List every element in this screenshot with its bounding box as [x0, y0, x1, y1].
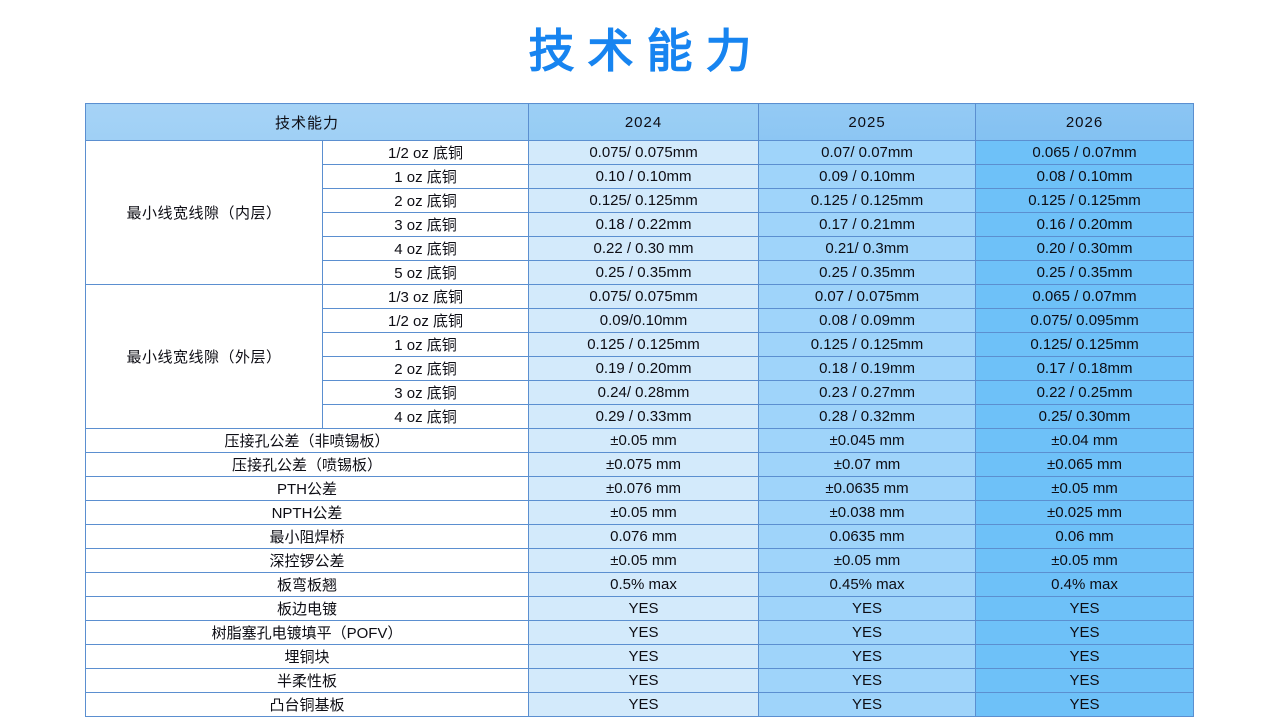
- cell-2026: 0.22 / 0.25mm: [976, 381, 1194, 405]
- cell-2025: 0.18 / 0.19mm: [759, 357, 976, 381]
- table-row: 树脂塞孔电镀填平（POFV）YESYESYES: [86, 621, 1194, 645]
- cell-2026: 0.4% max: [976, 573, 1194, 597]
- cell-2025: YES: [759, 669, 976, 693]
- table-row: 板弯板翘0.5% max0.45% max0.4% max: [86, 573, 1194, 597]
- sub-label: 1 oz 底铜: [323, 165, 529, 189]
- cell-2024: ±0.05 mm: [529, 429, 759, 453]
- cell-2024: ±0.05 mm: [529, 501, 759, 525]
- row-label: 板边电镀: [86, 597, 529, 621]
- cell-2025: YES: [759, 621, 976, 645]
- cell-2024: 0.09/0.10mm: [529, 309, 759, 333]
- cell-2024: ±0.05 mm: [529, 549, 759, 573]
- cell-2025: ±0.045 mm: [759, 429, 976, 453]
- cell-2025: 0.45% max: [759, 573, 976, 597]
- cell-2024: 0.125/ 0.125mm: [529, 189, 759, 213]
- cell-2025: YES: [759, 597, 976, 621]
- sub-label: 1/3 oz 底铜: [323, 285, 529, 309]
- sub-label: 1 oz 底铜: [323, 333, 529, 357]
- cell-2024: 0.075/ 0.075mm: [529, 285, 759, 309]
- cell-2024: 0.10 / 0.10mm: [529, 165, 759, 189]
- cell-2024: 0.5% max: [529, 573, 759, 597]
- row-label: 树脂塞孔电镀填平（POFV）: [86, 621, 529, 645]
- cell-2026: 0.075/ 0.095mm: [976, 309, 1194, 333]
- cell-2026: ±0.025 mm: [976, 501, 1194, 525]
- cell-2025: 0.08 / 0.09mm: [759, 309, 976, 333]
- cell-2026: 0.20 / 0.30mm: [976, 237, 1194, 261]
- table-row: PTH公差±0.076 mm±0.0635 mm±0.05 mm: [86, 477, 1194, 501]
- cell-2026: 0.17 / 0.18mm: [976, 357, 1194, 381]
- cell-2024: YES: [529, 669, 759, 693]
- cell-2024: 0.19 / 0.20mm: [529, 357, 759, 381]
- row-label: 埋铜块: [86, 645, 529, 669]
- cell-2026: 0.125/ 0.125mm: [976, 333, 1194, 357]
- cell-2024: 0.22 / 0.30 mm: [529, 237, 759, 261]
- table-row: 压接孔公差（非喷锡板）±0.05 mm±0.045 mm±0.04 mm: [86, 429, 1194, 453]
- page-title: 技术能力: [0, 22, 1280, 80]
- group-label-1: 最小线宽线隙（外层）: [86, 285, 323, 429]
- cell-2025: 0.07 / 0.075mm: [759, 285, 976, 309]
- table-row: 埋铜块YESYESYES: [86, 645, 1194, 669]
- cell-2024: 0.25 / 0.35mm: [529, 261, 759, 285]
- sub-label: 2 oz 底铜: [323, 357, 529, 381]
- cell-2026: 0.065 / 0.07mm: [976, 285, 1194, 309]
- cell-2024: 0.075/ 0.075mm: [529, 141, 759, 165]
- cell-2025: 0.23 / 0.27mm: [759, 381, 976, 405]
- cell-2025: 0.25 / 0.35mm: [759, 261, 976, 285]
- table-row: 最小线宽线隙（内层）1/2 oz 底铜0.075/ 0.075mm0.07/ 0…: [86, 141, 1194, 165]
- cell-2026: 0.25/ 0.30mm: [976, 405, 1194, 429]
- cell-2024: 0.29 / 0.33mm: [529, 405, 759, 429]
- technical-capability-table: 技术能力 2024 2025 2026 最小线宽线隙（内层）1/2 oz 底铜0…: [85, 103, 1194, 717]
- header-row: 技术能力 2024 2025 2026: [86, 104, 1194, 141]
- cell-2024: YES: [529, 693, 759, 717]
- sub-label: 4 oz 底铜: [323, 237, 529, 261]
- cell-2026: YES: [976, 621, 1194, 645]
- cell-2026: YES: [976, 669, 1194, 693]
- cell-2025: 0.0635 mm: [759, 525, 976, 549]
- sub-label: 1/2 oz 底铜: [323, 141, 529, 165]
- sub-label: 5 oz 底铜: [323, 261, 529, 285]
- cell-2025: 0.21/ 0.3mm: [759, 237, 976, 261]
- cell-2026: ±0.04 mm: [976, 429, 1194, 453]
- sub-label: 1/2 oz 底铜: [323, 309, 529, 333]
- cell-2025: 0.09 / 0.10mm: [759, 165, 976, 189]
- cell-2025: ±0.0635 mm: [759, 477, 976, 501]
- cell-2024: YES: [529, 597, 759, 621]
- cell-2025: 0.07/ 0.07mm: [759, 141, 976, 165]
- sub-label: 4 oz 底铜: [323, 405, 529, 429]
- cell-2026: YES: [976, 645, 1194, 669]
- cell-2026: 0.06 mm: [976, 525, 1194, 549]
- cell-2024: 0.18 / 0.22mm: [529, 213, 759, 237]
- cell-2024: ±0.076 mm: [529, 477, 759, 501]
- row-label: PTH公差: [86, 477, 529, 501]
- group-label-0: 最小线宽线隙（内层）: [86, 141, 323, 285]
- row-label: 最小阻焊桥: [86, 525, 529, 549]
- row-label: 压接孔公差（非喷锡板）: [86, 429, 529, 453]
- cell-2026: YES: [976, 597, 1194, 621]
- cell-2024: 0.076 mm: [529, 525, 759, 549]
- table-header: 技术能力 2024 2025 2026: [86, 104, 1194, 141]
- table-body: 最小线宽线隙（内层）1/2 oz 底铜0.075/ 0.075mm0.07/ 0…: [86, 141, 1194, 717]
- table-row: 半柔性板YESYESYES: [86, 669, 1194, 693]
- cell-2024: YES: [529, 645, 759, 669]
- table-row: 压接孔公差（喷锡板）±0.075 mm±0.07 mm±0.065 mm: [86, 453, 1194, 477]
- sub-label: 3 oz 底铜: [323, 381, 529, 405]
- row-label: 凸台铜基板: [86, 693, 529, 717]
- table-row: 最小线宽线隙（外层）1/3 oz 底铜0.075/ 0.075mm0.07 / …: [86, 285, 1194, 309]
- header-year-2025: 2025: [759, 104, 976, 141]
- row-label: NPTH公差: [86, 501, 529, 525]
- cell-2025: 0.28 / 0.32mm: [759, 405, 976, 429]
- header-capability: 技术能力: [86, 104, 529, 141]
- cell-2026: ±0.05 mm: [976, 549, 1194, 573]
- cell-2026: YES: [976, 693, 1194, 717]
- cell-2026: 0.125 / 0.125mm: [976, 189, 1194, 213]
- cell-2025: ±0.05 mm: [759, 549, 976, 573]
- cell-2025: 0.125 / 0.125mm: [759, 333, 976, 357]
- spec-table-container: 技术能力 2024 2025 2026 最小线宽线隙（内层）1/2 oz 底铜0…: [85, 103, 1193, 717]
- sub-label: 2 oz 底铜: [323, 189, 529, 213]
- sub-label: 3 oz 底铜: [323, 213, 529, 237]
- table-row: 凸台铜基板YESYESYES: [86, 693, 1194, 717]
- row-label: 压接孔公差（喷锡板）: [86, 453, 529, 477]
- row-label: 板弯板翘: [86, 573, 529, 597]
- header-year-2024: 2024: [529, 104, 759, 141]
- table-row: 最小阻焊桥0.076 mm0.0635 mm0.06 mm: [86, 525, 1194, 549]
- header-year-2026: 2026: [976, 104, 1194, 141]
- cell-2024: ±0.075 mm: [529, 453, 759, 477]
- cell-2026: 0.25 / 0.35mm: [976, 261, 1194, 285]
- cell-2026: 0.08 / 0.10mm: [976, 165, 1194, 189]
- cell-2025: YES: [759, 645, 976, 669]
- cell-2026: ±0.065 mm: [976, 453, 1194, 477]
- cell-2026: 0.16 / 0.20mm: [976, 213, 1194, 237]
- table-row: 板边电镀YESYESYES: [86, 597, 1194, 621]
- cell-2026: ±0.05 mm: [976, 477, 1194, 501]
- cell-2024: 0.24/ 0.28mm: [529, 381, 759, 405]
- cell-2025: ±0.07 mm: [759, 453, 976, 477]
- cell-2025: 0.17 / 0.21mm: [759, 213, 976, 237]
- cell-2025: 0.125 / 0.125mm: [759, 189, 976, 213]
- cell-2025: ±0.038 mm: [759, 501, 976, 525]
- table-row: NPTH公差±0.05 mm±0.038 mm±0.025 mm: [86, 501, 1194, 525]
- cell-2026: 0.065 / 0.07mm: [976, 141, 1194, 165]
- cell-2024: YES: [529, 621, 759, 645]
- cell-2024: 0.125 / 0.125mm: [529, 333, 759, 357]
- cell-2025: YES: [759, 693, 976, 717]
- row-label: 半柔性板: [86, 669, 529, 693]
- table-row: 深控锣公差±0.05 mm±0.05 mm±0.05 mm: [86, 549, 1194, 573]
- row-label: 深控锣公差: [86, 549, 529, 573]
